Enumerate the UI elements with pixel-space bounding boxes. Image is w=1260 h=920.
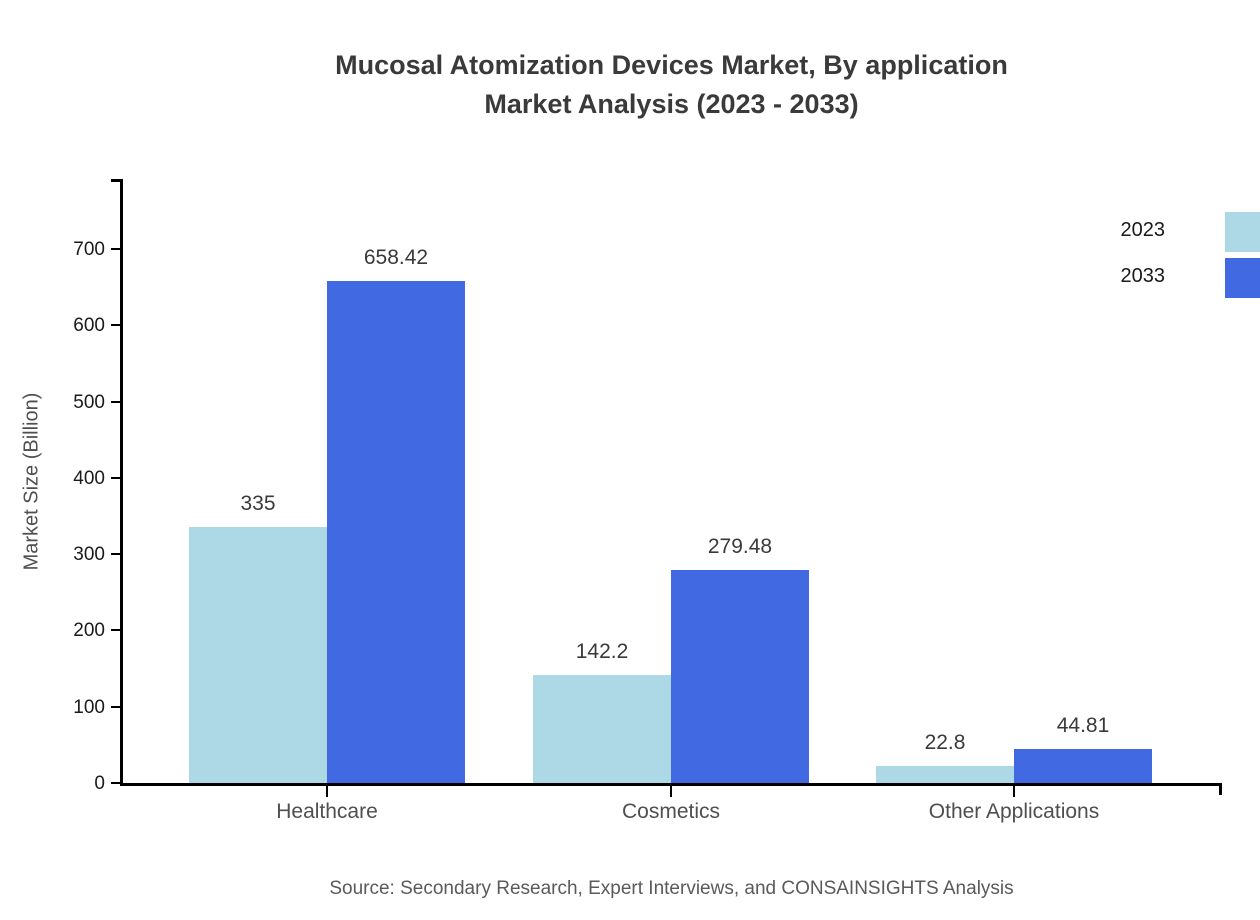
y-axis-tick-label: 400 <box>15 469 105 488</box>
y-axis-tick <box>111 706 121 708</box>
legend-swatch-2033 <box>1225 258 1260 298</box>
bar-cosmetics-2023 <box>533 675 671 783</box>
x-axis-tick <box>670 786 672 797</box>
y-axis-tick-label: 500 <box>15 393 105 412</box>
y-axis-tick <box>111 401 121 403</box>
y-axis-tick <box>111 248 121 250</box>
x-axis-end-cap <box>1219 783 1222 795</box>
x-axis-tick <box>1013 786 1015 797</box>
bar-healthcare-2033 <box>327 281 465 783</box>
y-axis-tick-label: 0 <box>15 774 105 793</box>
chart-title-line-1: Mucosal Atomization Devices Market, By a… <box>0 46 1260 85</box>
y-axis-tick <box>111 553 121 555</box>
y-axis-tick-label: 600 <box>15 316 105 335</box>
legend-item-2023[interactable]: 2023 <box>1137 218 1260 258</box>
bar-cosmetics-2033 <box>671 570 809 783</box>
y-axis-top-cap <box>111 179 123 182</box>
y-axis-tick-label: 700 <box>15 240 105 259</box>
source-note: Source: Secondary Research, Expert Inter… <box>0 878 1260 900</box>
x-axis-tick <box>326 786 328 797</box>
y-axis-tick <box>111 324 121 326</box>
x-axis-tick-label-cosmetics: Cosmetics <box>622 800 720 824</box>
y-axis-tick <box>111 629 121 631</box>
legend-label-2023: 2023 <box>1045 220 1165 240</box>
bar-other-applications-2033 <box>1014 749 1152 783</box>
bar-other-applications-2023 <box>876 766 1014 783</box>
chart-legend: 20232033 <box>1137 218 1260 310</box>
legend-swatch-2023 <box>1225 212 1260 252</box>
chart-title: Mucosal Atomization Devices Market, By a… <box>0 46 1260 124</box>
legend-item-2033[interactable]: 2033 <box>1137 264 1260 304</box>
bar-value-label: 279.48 <box>708 536 772 557</box>
bar-healthcare-2023 <box>189 527 327 783</box>
x-axis-tick-label-healthcare: Healthcare <box>276 800 378 824</box>
bar-value-label: 44.81 <box>1057 715 1110 736</box>
bar-value-label: 142.2 <box>576 641 629 662</box>
y-axis-tick <box>111 477 121 479</box>
y-axis-spine <box>120 179 123 784</box>
chart-title-line-2: Market Analysis (2023 - 2033) <box>0 85 1260 124</box>
x-axis-tick-label-other-applications: Other Applications <box>929 800 1099 824</box>
y-axis-tick-label: 100 <box>15 698 105 717</box>
bar-value-label: 22.8 <box>925 732 966 753</box>
y-axis-tick-label: 200 <box>15 621 105 640</box>
bar-value-label: 658.42 <box>364 247 428 268</box>
y-axis-tick-label: 300 <box>15 545 105 564</box>
y-axis-tick <box>111 782 121 784</box>
chart-figure: Mucosal Atomization Devices Market, By a… <box>0 0 1260 920</box>
bar-value-label: 335 <box>240 493 275 514</box>
legend-label-2033: 2033 <box>1045 266 1165 286</box>
